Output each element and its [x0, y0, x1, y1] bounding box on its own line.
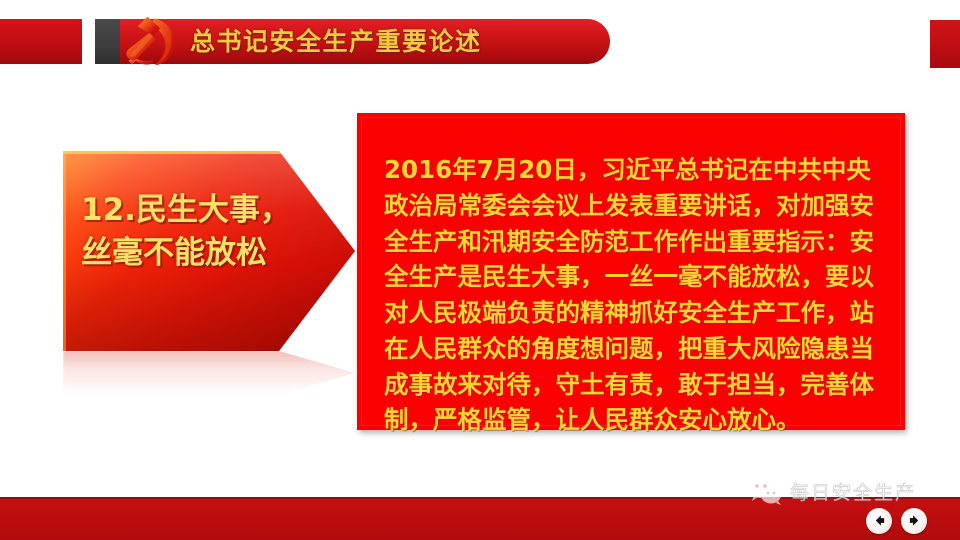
header-gray-block: [95, 19, 120, 64]
arrow-callout: 12.民生大事，丝毫不能放松: [63, 151, 355, 351]
content-box-inner: 2016年7月20日，习近平总书记在中共中央政治局常委会会议上发表重要讲话，对加…: [361, 117, 901, 426]
header-left-red-block: [0, 19, 82, 64]
prev-slide-button[interactable]: [866, 508, 892, 534]
content-body-text: 2016年7月20日，习近平总书记在中共中央政治局常委会会议上发表重要讲话，对加…: [384, 152, 894, 438]
next-slide-button[interactable]: [901, 508, 927, 534]
page-title: 总书记安全生产重要论述: [190, 19, 482, 64]
footer-bar: [0, 497, 960, 540]
arrow-left-icon: [873, 512, 886, 531]
slide-canvas: 总书记安全生产重要论述 12.民生大事，丝毫不能放松 2016年7月20日，习近…: [0, 0, 960, 540]
header-right-red-block: [930, 20, 960, 68]
slide-navigation: [866, 508, 927, 534]
arrow-callout-label: 12.民生大事，丝毫不能放松: [81, 189, 296, 275]
ccp-hammer-sickle-emblem-icon: [123, 13, 181, 69]
arrow-callout-reflection: [63, 351, 355, 395]
content-box: 2016年7月20日，习近平总书记在中共中央政治局常委会会议上发表重要讲话，对加…: [357, 113, 905, 430]
arrow-right-icon: [908, 512, 921, 531]
